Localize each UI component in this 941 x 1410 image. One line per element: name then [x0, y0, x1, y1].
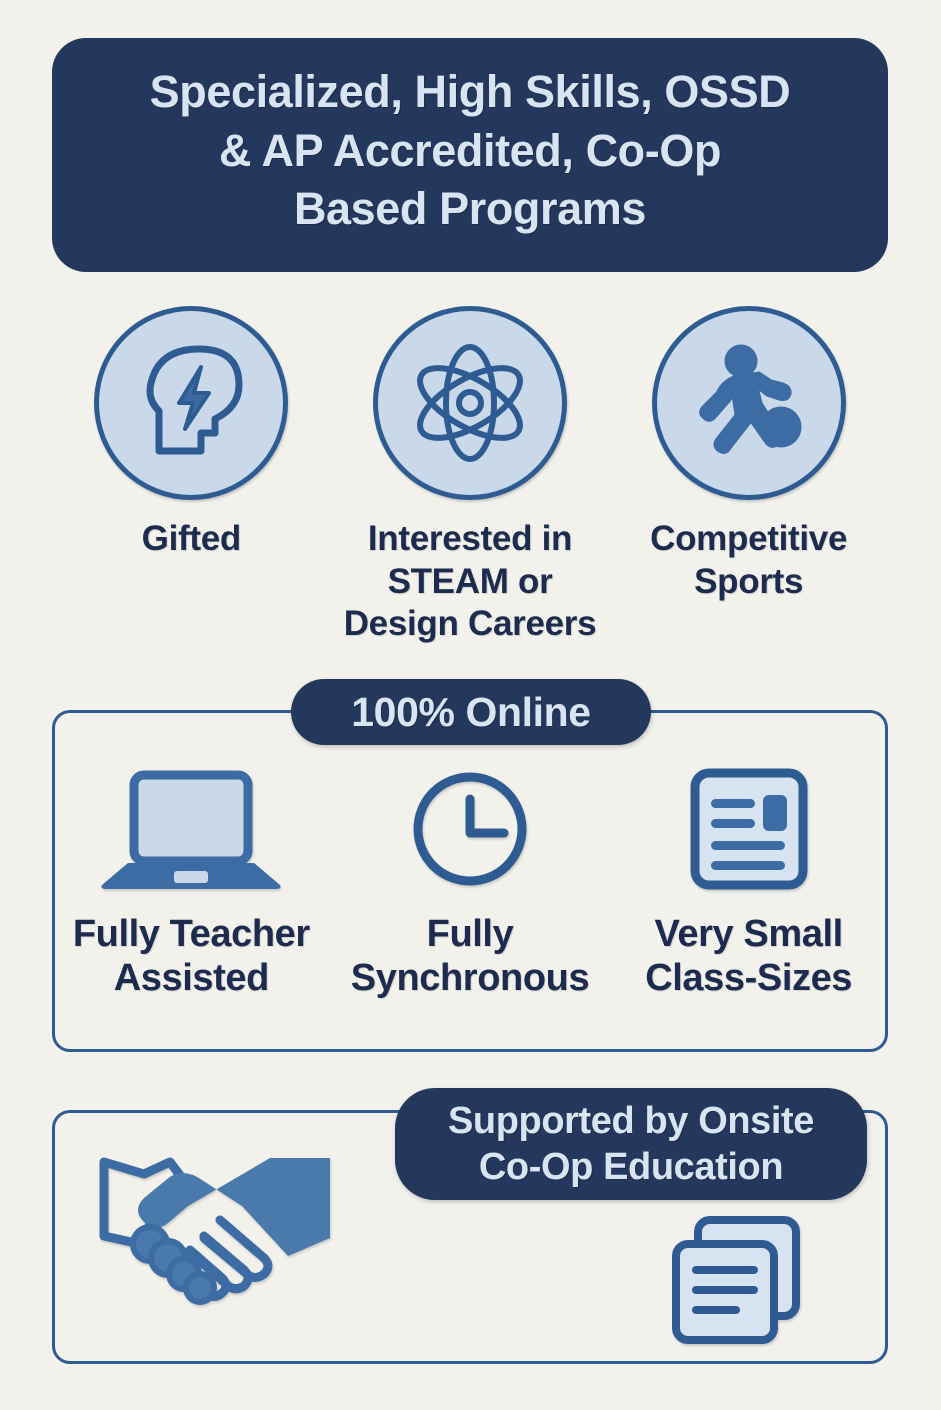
laptop-icon: [98, 767, 284, 891]
online-label-class-sizes: Very Small Class-Sizes: [609, 912, 888, 1001]
online-item-teacher-assisted: Fully Teacher Assisted: [52, 762, 331, 1001]
online-label-teacher-assisted: Fully Teacher Assisted: [52, 912, 331, 1001]
soccer-player-icon: [679, 333, 819, 473]
infographic-page: Specialized, High Skills, OSSD & AP Accr…: [0, 0, 941, 1410]
atom-icon: [400, 333, 540, 473]
badge-coop-line-2: Co-Op Education: [448, 1144, 814, 1190]
badge-coop-education: Supported by Onsite Co-Op Education: [395, 1088, 867, 1200]
stacked-documents-icon-wrap: [668, 1212, 818, 1348]
circle-frame-gifted: [94, 306, 288, 500]
online-section-items: Fully Teacher Assisted Fully Synchronous: [52, 762, 888, 1001]
title-line-3: Based Programs: [150, 180, 791, 239]
audience-item-steam: Interested in STEAM or Design Careers: [331, 306, 610, 646]
online-item-synchronous: Fully Synchronous: [331, 762, 610, 1001]
online-label-synchronous: Fully Synchronous: [331, 912, 610, 1001]
audience-item-gifted: Gifted: [52, 306, 331, 646]
title-line-2: & AP Accredited, Co-Op: [150, 122, 791, 181]
handshake-icon: [92, 1140, 342, 1320]
clock-icon: [408, 767, 532, 891]
title-line-1: Specialized, High Skills, OSSD: [150, 63, 791, 122]
audience-item-sports: Competitive Sports: [609, 306, 888, 646]
title-banner: Specialized, High Skills, OSSD & AP Accr…: [52, 38, 888, 272]
badge-coop-line-1: Supported by Onsite: [448, 1098, 814, 1144]
page-title: Specialized, High Skills, OSSD & AP Accr…: [150, 63, 791, 239]
head-lightning-icon: [121, 333, 261, 473]
badge-100-percent-online: 100% Online: [291, 679, 651, 745]
circle-frame-steam: [373, 306, 567, 500]
circle-frame-sports: [652, 306, 846, 500]
stacked-documents-icon: [668, 1212, 818, 1348]
online-item-class-sizes: Very Small Class-Sizes: [609, 762, 888, 1001]
audience-label-steam: Interested in STEAM or Design Careers: [331, 518, 610, 646]
handshake-icon-wrap: [92, 1140, 342, 1320]
audience-section: Gifted Interested in STEAM or Design C: [52, 306, 888, 646]
audience-label-gifted: Gifted: [142, 518, 241, 561]
document-card-icon: [687, 767, 811, 891]
audience-label-sports: Competitive Sports: [609, 518, 888, 603]
